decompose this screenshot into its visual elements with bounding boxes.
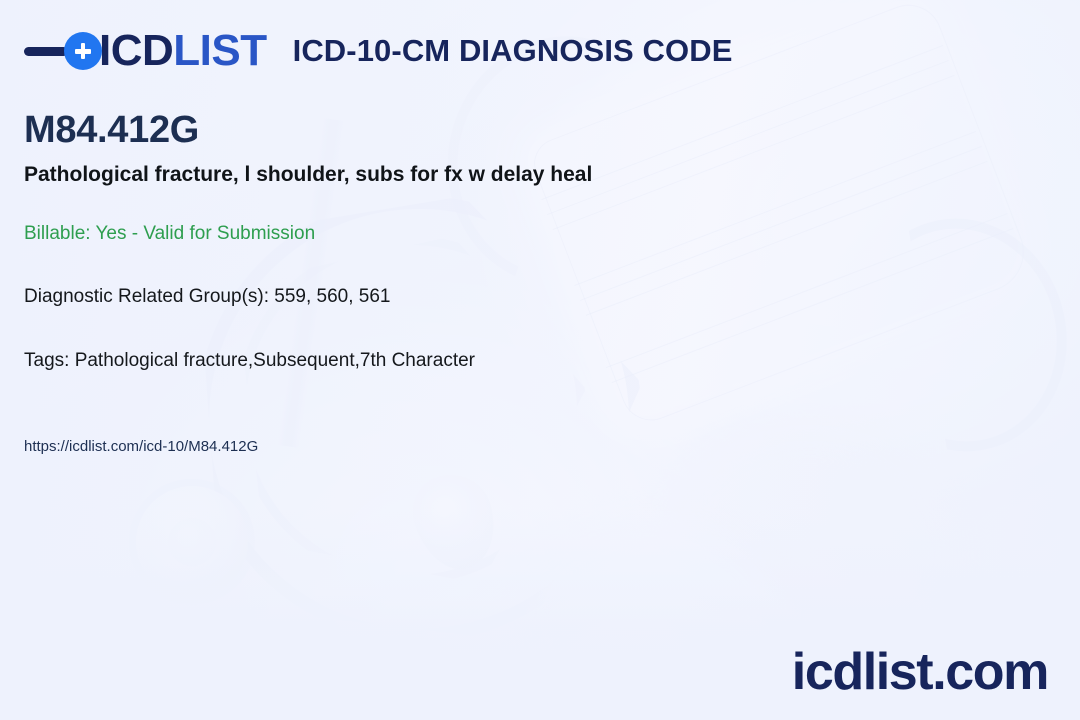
logo-text-icd: ICD [99,26,173,75]
logo-text-list: LIST [173,26,266,75]
logo-wordmark: ICDLIST [99,29,267,73]
card-header: ICDLIST ICD-10-CM DIAGNOSIS CODE [0,0,1080,102]
plus-circle-icon [64,32,102,70]
code-details: M84.412G Pathological fracture, l should… [24,110,1034,457]
stethoscope-chestpiece [136,486,248,598]
stethoscope-eartip [403,464,507,579]
tags-list: Tags: Pathological fracture,Subsequent,7… [24,349,1034,374]
source-url[interactable]: https://icdlist.com/icd-10/M84.412G [24,437,1034,457]
logo-dash-icon [24,47,68,56]
icd-code-card: ICDLIST ICD-10-CM DIAGNOSIS CODE M84.412… [0,0,1080,720]
diagnostic-related-groups: Diagnostic Related Group(s): 559, 560, 5… [24,285,1034,310]
page-title: ICD-10-CM DIAGNOSIS CODE [293,33,733,69]
icdlist-logo[interactable]: ICDLIST [24,29,267,73]
diagnosis-description: Pathological fracture, l shoulder, subs … [24,162,1034,188]
diagnosis-code: M84.412G [24,110,1034,152]
background-blur-blob-2 [520,520,780,720]
footer-brand: icdlist.com [792,646,1048,698]
billable-status: Billable: Yes - Valid for Submission [24,222,1034,247]
